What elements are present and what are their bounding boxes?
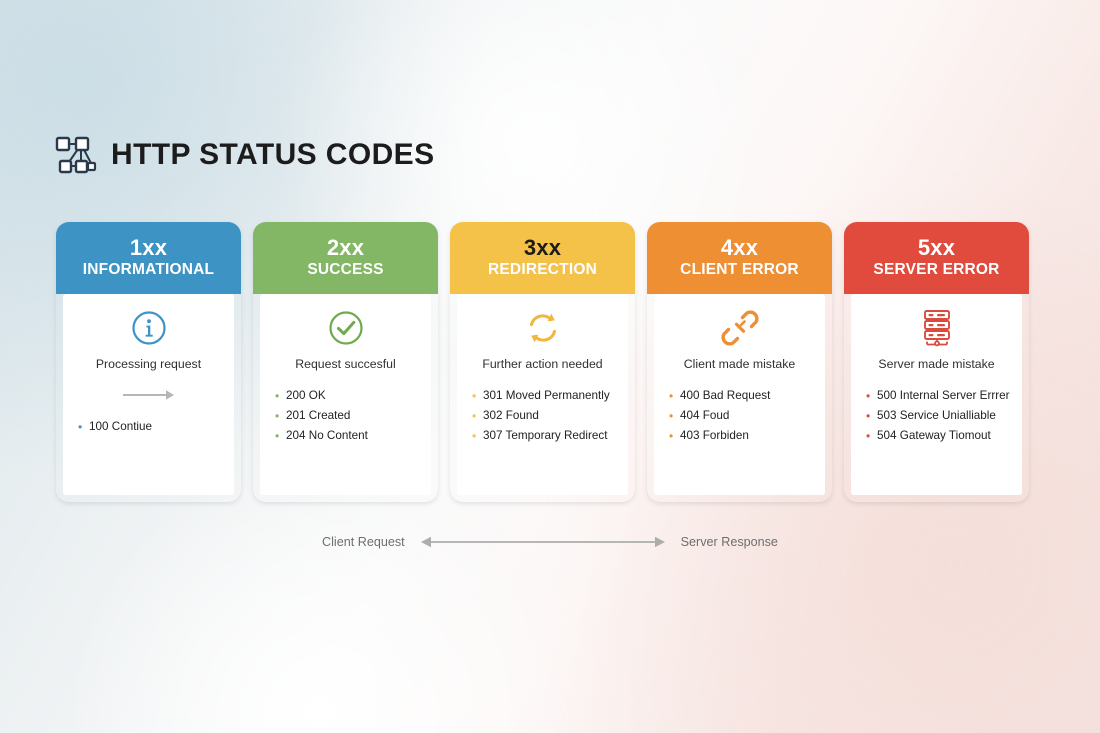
list-item: 204 No Content (275, 426, 368, 446)
broken-link-icon (720, 306, 760, 350)
list-item: 404 Foud (669, 406, 770, 426)
card-header-1xx: 1xx INFORMATIONAL (56, 222, 241, 294)
double-headed-arrow-icon (419, 534, 667, 550)
card-body-1xx: Processing request 100 Contiue (63, 294, 234, 495)
page-header: HTTP STATUS CODES (55, 134, 435, 176)
check-circle-icon (327, 306, 365, 350)
card-code-5xx: 5xx (850, 236, 1023, 259)
card-name-1xx: INFORMATIONAL (62, 260, 235, 279)
page-title: HTTP STATUS CODES (111, 140, 435, 170)
info-circle-icon (130, 306, 168, 350)
status-card-3xx[interactable]: 3xx REDIRECTION Further action needed 30… (450, 222, 635, 502)
flow-arrow-icon (121, 388, 177, 407)
card-tagline-2xx: Request succesful (295, 357, 395, 372)
card-name-3xx: REDIRECTION (456, 260, 629, 279)
card-tagline-1xx: Processing request (96, 357, 201, 372)
card-list-3xx: 301 Moved Permanently 302 Found 307 Temp… (466, 386, 610, 446)
card-list-1xx: 100 Contiue (72, 417, 152, 437)
network-nodes-icon (55, 134, 97, 176)
list-item: 201 Created (275, 406, 368, 426)
card-tagline-4xx: Client made mistake (684, 357, 795, 372)
card-list-2xx: 200 OK 201 Created 204 No Content (269, 386, 368, 446)
card-name-5xx: SERVER ERROR (850, 260, 1023, 279)
list-item: 403 Forbiden (669, 426, 770, 446)
list-item: 500 Internal Server Errrer (866, 386, 1010, 406)
card-body-2xx: Request succesful 200 OK 201 Created 204… (260, 294, 431, 495)
card-code-2xx: 2xx (259, 236, 432, 259)
list-item: 504 Gateway Tiomout (866, 426, 1010, 446)
status-card-2xx[interactable]: 2xx SUCCESS Request succesful 200 OK 201… (253, 222, 438, 502)
status-code-cards: 1xx INFORMATIONAL Processing request 100… (56, 222, 1046, 502)
card-header-3xx: 3xx REDIRECTION (450, 222, 635, 294)
status-card-4xx[interactable]: 4xx CLIENT ERROR Client made mistake (647, 222, 832, 502)
status-card-5xx[interactable]: 5xx SERVER ERROR (844, 222, 1029, 502)
status-card-1xx[interactable]: 1xx INFORMATIONAL Processing request 100… (56, 222, 241, 502)
card-body-3xx: Further action needed 301 Moved Permanen… (457, 294, 628, 495)
card-header-2xx: 2xx SUCCESS (253, 222, 438, 294)
list-item: 302 Found (472, 406, 610, 426)
list-item: 100 Contiue (78, 417, 152, 437)
card-code-3xx: 3xx (456, 236, 629, 259)
refresh-cycle-icon (523, 306, 563, 350)
card-name-2xx: SUCCESS (259, 260, 432, 279)
flow-legend: Client Request Server Response (0, 534, 1100, 550)
server-rack-icon (919, 306, 955, 350)
list-item: 503 Service Unialliable (866, 406, 1010, 426)
list-item: 200 OK (275, 386, 368, 406)
list-item: 301 Moved Permanently (472, 386, 610, 406)
card-tagline-3xx: Further action needed (482, 357, 602, 372)
card-code-4xx: 4xx (653, 236, 826, 259)
card-name-4xx: CLIENT ERROR (653, 260, 826, 279)
list-item: 307 Temporary Redirect (472, 426, 610, 446)
card-list-5xx: 500 Internal Server Errrer 503 Service U… (860, 386, 1010, 446)
card-body-4xx: Client made mistake 400 Bad Request 404 … (654, 294, 825, 495)
card-tagline-5xx: Server made mistake (878, 357, 994, 372)
legend-label-client-request: Client Request (322, 535, 405, 549)
card-header-4xx: 4xx CLIENT ERROR (647, 222, 832, 294)
card-body-5xx: Server made mistake 500 Internal Server … (851, 294, 1022, 495)
card-header-5xx: 5xx SERVER ERROR (844, 222, 1029, 294)
legend-label-server-response: Server Response (681, 535, 778, 549)
card-list-4xx: 400 Bad Request 404 Foud 403 Forbiden (663, 386, 770, 446)
list-item: 400 Bad Request (669, 386, 770, 406)
card-code-1xx: 1xx (62, 236, 235, 259)
